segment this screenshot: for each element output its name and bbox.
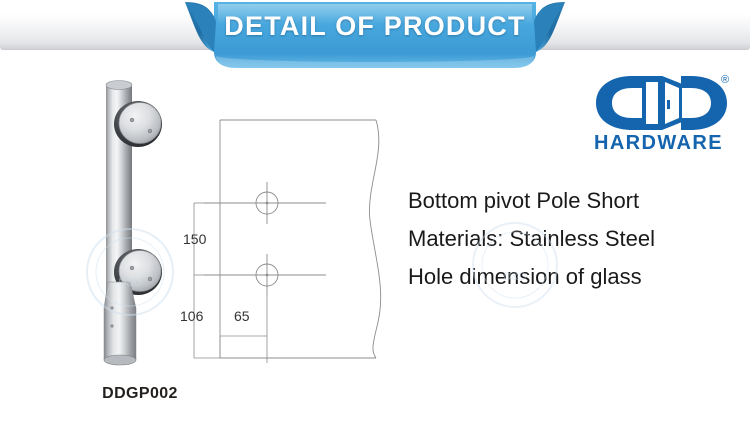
base-grub-screw-2 (110, 324, 113, 327)
upper-clamp-disc (119, 103, 161, 144)
page-banner: DETAIL OF PRODUCT (0, 0, 750, 72)
description-line-1: Bottom pivot Pole Short (408, 182, 750, 220)
base-bottom (104, 355, 136, 365)
product-photo: D&D (72, 72, 192, 372)
logo-door-jamb-inner (646, 82, 658, 124)
base-grub-screw-1 (110, 306, 113, 309)
lower-clamp-screw-1 (130, 266, 134, 270)
lower-clamp-screw-2 (148, 277, 152, 281)
dimension-label-150: 150 (183, 231, 207, 247)
base-cone (104, 282, 136, 360)
glass-break-edge (369, 120, 380, 358)
technical-drawing: 150 106 65 (180, 108, 400, 370)
logo-wordmark: HARDWARE (594, 132, 723, 155)
product-code-label: DDGP002 (60, 385, 220, 403)
description-line-2: Materials: Stainless Steel (408, 220, 750, 258)
company-logo: ® HARDWARE (588, 72, 748, 164)
logo-door-handle (667, 100, 670, 109)
hole-lower (204, 254, 326, 296)
registered-trademark-icon: ® (721, 74, 729, 86)
dimension-lines-vertical (194, 203, 220, 358)
dd-monogram-icon (594, 74, 729, 132)
dimension-label-65: 65 (234, 308, 250, 324)
description-line-3: Hole dimension of glass (408, 258, 750, 296)
banner-title: DETAIL OF PRODUCT (0, 11, 750, 42)
pole-top-cap (106, 81, 132, 90)
svg-text:D&D: D&D (118, 277, 141, 289)
product-description: Bottom pivot Pole Short Materials: Stain… (408, 182, 750, 296)
upper-clamp-screw-1 (130, 118, 134, 122)
logo-left-d (596, 76, 642, 130)
dimension-label-106: 106 (180, 308, 204, 324)
hole-upper (204, 182, 326, 224)
upper-clamp-screw-2 (148, 129, 152, 133)
dimension-lines-horizontal (220, 296, 267, 363)
